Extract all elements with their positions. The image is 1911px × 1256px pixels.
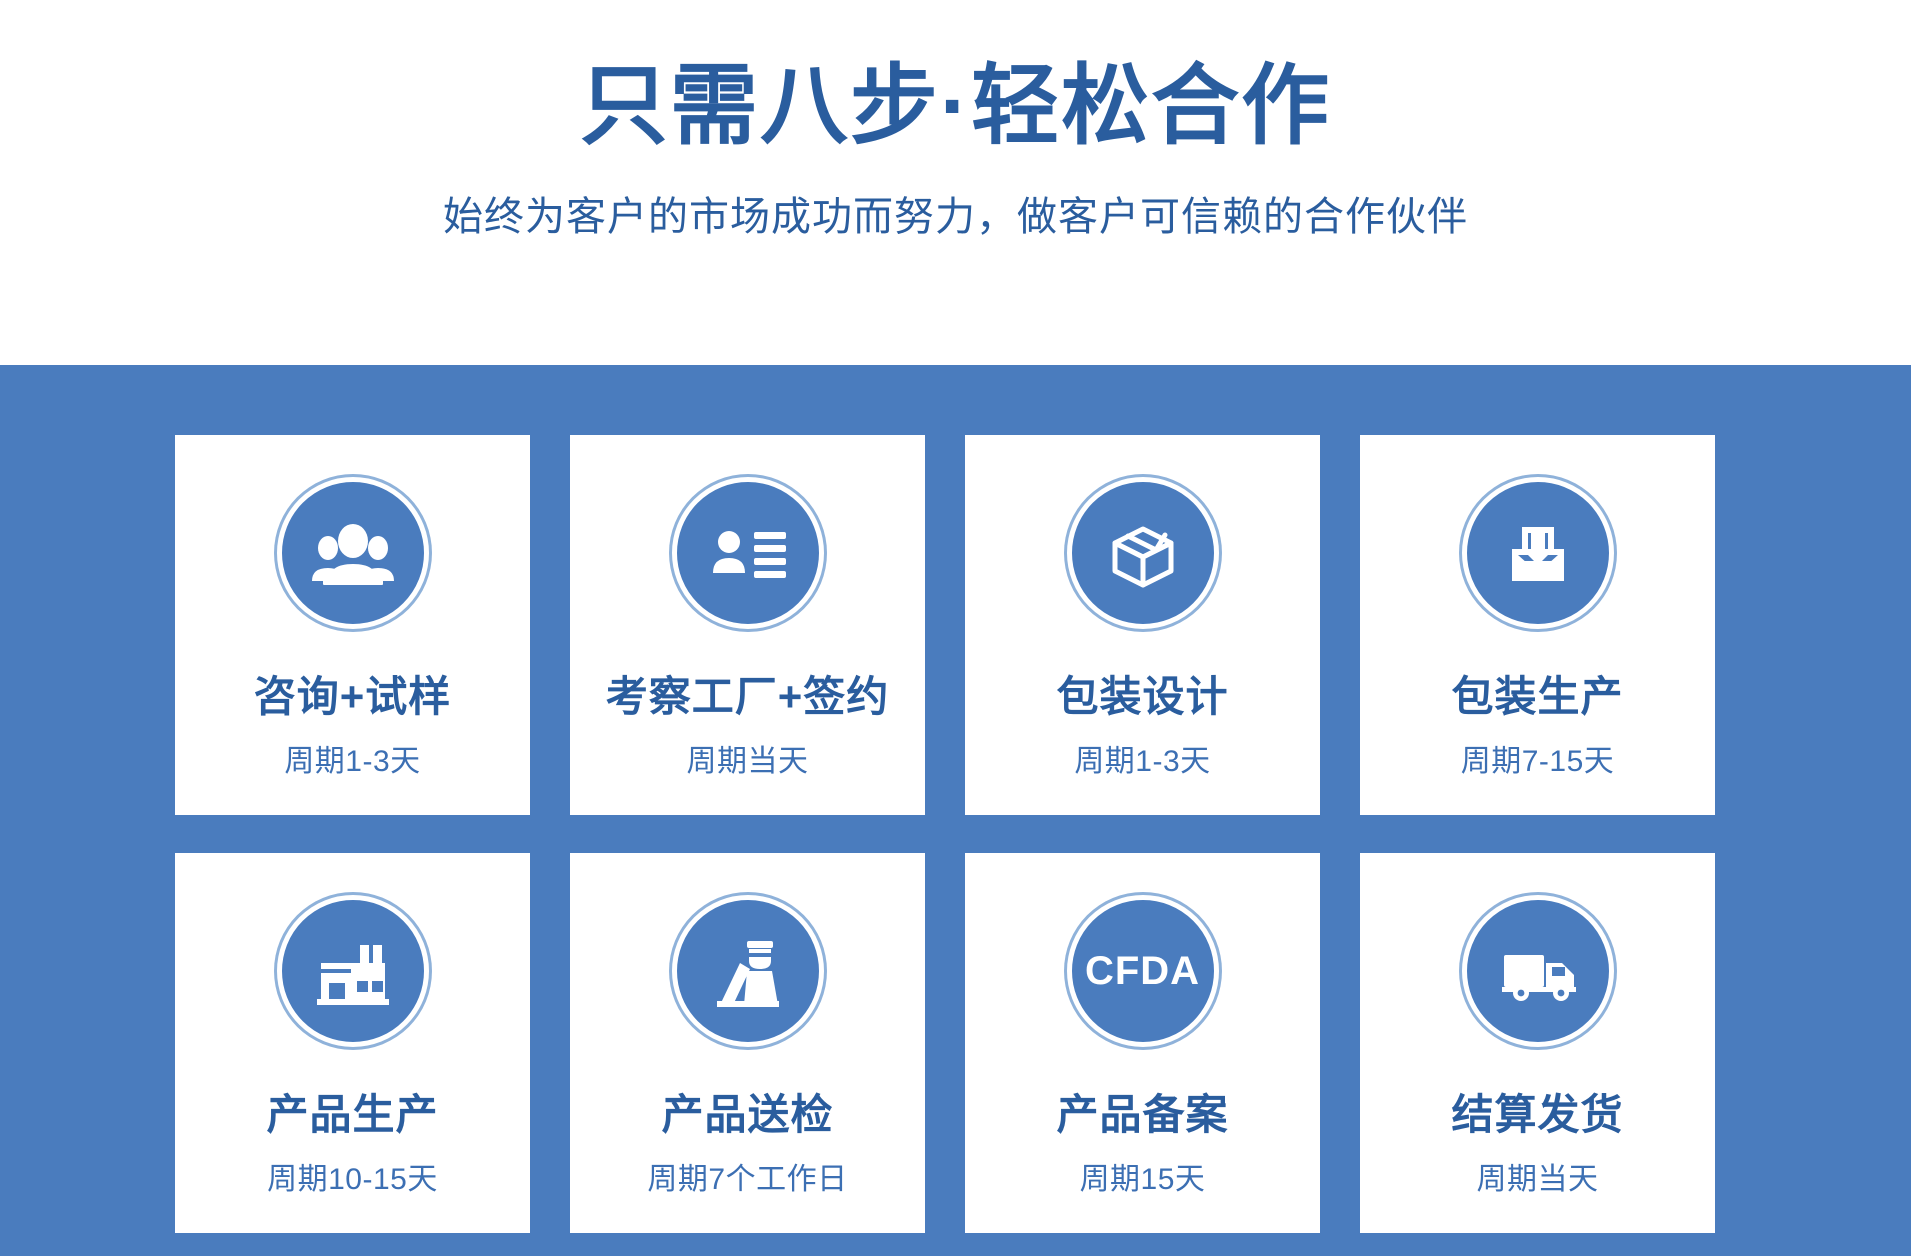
users-group-icon bbox=[277, 477, 429, 629]
step-title: 产品备案 bbox=[1056, 1081, 1228, 1142]
cfda-label: CFDA bbox=[1085, 949, 1200, 994]
step-card[interactable]: 考察工厂+签约 周期当天 bbox=[570, 435, 925, 815]
step-card[interactable]: 咨询+试样 周期1-3天 bbox=[175, 435, 530, 815]
step-title: 结算发货 bbox=[1451, 1081, 1623, 1142]
step-card[interactable]: CFDA 产品备案 周期15天 bbox=[965, 853, 1320, 1233]
step-period: 周期1-3天 bbox=[1074, 736, 1210, 780]
id-card-list-icon bbox=[672, 477, 824, 629]
step-period: 周期7个工作日 bbox=[647, 1154, 847, 1198]
factory-icon bbox=[277, 895, 429, 1047]
step-title: 考察工厂+签约 bbox=[606, 663, 890, 724]
page-title: 只需八步·轻松合作 bbox=[580, 55, 1331, 156]
step-period: 周期7-15天 bbox=[1461, 736, 1615, 780]
step-period: 周期10-15天 bbox=[267, 1154, 438, 1198]
steps-grid: 咨询+试样 周期1-3天 bbox=[175, 435, 1735, 1233]
step-title: 包装生产 bbox=[1451, 663, 1623, 724]
page-subtitle: 始终为客户的市场成功而努力，做客户可信赖的合作伙伴 bbox=[443, 184, 1468, 242]
inbox-download-icon bbox=[1462, 477, 1614, 629]
step-period: 周期1-3天 bbox=[284, 736, 420, 780]
page-header: 只需八步·轻松合作 始终为客户的市场成功而努力，做客户可信赖的合作伙伴 bbox=[0, 0, 1911, 365]
promo-process-page: 只需八步·轻松合作 始终为客户的市场成功而努力，做客户可信赖的合作伙伴 bbox=[0, 0, 1911, 1256]
step-card[interactable]: 结算发货 周期当天 bbox=[1360, 853, 1715, 1233]
step-card[interactable]: 包装生产 周期7-15天 bbox=[1360, 435, 1715, 815]
step-card[interactable]: 产品生产 周期10-15天 bbox=[175, 853, 530, 1233]
step-title: 咨询+试样 bbox=[254, 663, 452, 724]
step-title: 产品送检 bbox=[661, 1081, 833, 1142]
delivery-truck-icon bbox=[1462, 895, 1614, 1047]
step-period: 周期当天 bbox=[687, 736, 809, 780]
step-card[interactable]: 产品送检 周期7个工作日 bbox=[570, 853, 925, 1233]
step-card[interactable]: 包装设计 周期1-3天 bbox=[965, 435, 1320, 815]
step-period: 周期当天 bbox=[1477, 1154, 1599, 1198]
step-title: 包装设计 bbox=[1056, 663, 1228, 724]
cfda-badge-icon: CFDA bbox=[1067, 895, 1219, 1047]
step-title: 产品生产 bbox=[266, 1081, 438, 1142]
inspector-officer-icon bbox=[672, 895, 824, 1047]
open-box-package-icon bbox=[1067, 477, 1219, 629]
steps-panel: 咨询+试样 周期1-3天 bbox=[0, 365, 1911, 1256]
step-period: 周期15天 bbox=[1080, 1154, 1206, 1198]
